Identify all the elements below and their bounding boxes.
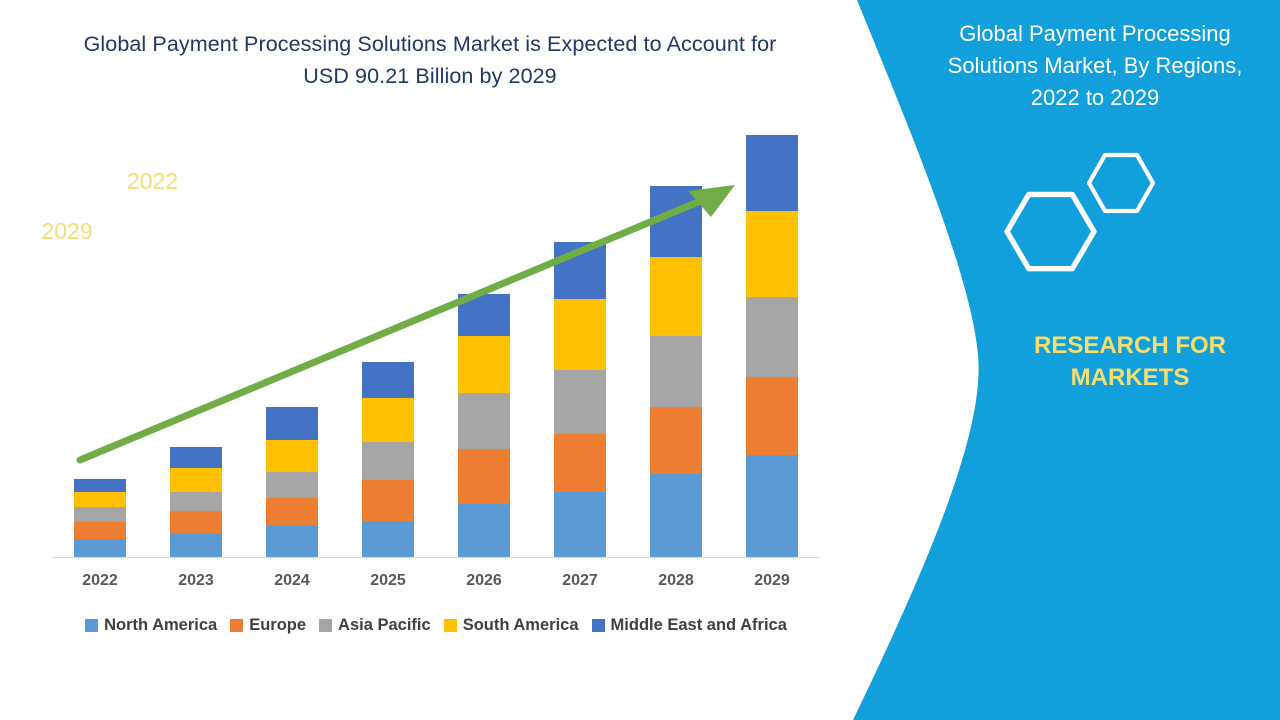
- x-axis-tick-2026: 2026: [449, 572, 519, 590]
- bar-segment: [554, 492, 606, 558]
- infographic-root: Global Payment Processing Solutions Mark…: [0, 0, 1280, 720]
- stacked-bar: [74, 479, 126, 558]
- bar-segment: [650, 407, 702, 474]
- x-axis-tick-2029: 2029: [737, 572, 807, 590]
- bar-segment: [458, 294, 510, 336]
- bar-segment: [554, 370, 606, 434]
- stacked-bar: [554, 242, 606, 558]
- legend-swatch-icon: [230, 619, 243, 632]
- bar-segment: [170, 492, 222, 511]
- x-axis-tick-2028: 2028: [641, 572, 711, 590]
- chart-panel: Global Payment Processing Solutions Mark…: [0, 0, 860, 720]
- legend-label: Europe: [249, 616, 306, 635]
- bar-segment: [74, 507, 126, 522]
- legend-label: South America: [463, 616, 579, 635]
- bar-segment: [458, 393, 510, 449]
- hexagon-badges: [985, 145, 1185, 280]
- legend-label: Asia Pacific: [338, 616, 431, 635]
- x-axis-tick-2023: 2023: [161, 572, 231, 590]
- bar-segment: [554, 242, 606, 299]
- bar-segment: [746, 377, 798, 455]
- stacked-bar: [650, 186, 702, 558]
- bar-segment: [458, 449, 510, 503]
- bar-segment: [266, 440, 318, 471]
- bar-segment: [74, 479, 126, 492]
- legend-swatch-icon: [319, 619, 332, 632]
- legend-item: North America: [85, 616, 217, 635]
- bar-segment: [554, 434, 606, 492]
- bar-segment: [554, 299, 606, 370]
- legend-swatch-icon: [85, 619, 98, 632]
- bar-segment: [746, 211, 798, 298]
- bar-segment: [266, 472, 318, 498]
- bar-segment: [170, 447, 222, 468]
- bar-segment: [266, 407, 318, 440]
- bar-segment: [170, 468, 222, 492]
- bar-segment: [74, 522, 126, 540]
- bar-segment: [266, 525, 318, 558]
- bar-segment: [362, 362, 414, 399]
- bar-segment: [746, 297, 798, 376]
- bar-segment: [746, 455, 798, 558]
- chart-legend: North AmericaEuropeAsia PacificSouth Ame…: [52, 616, 820, 635]
- bar-segment: [362, 398, 414, 442]
- bar-segment: [650, 186, 702, 256]
- bar-segment: [74, 492, 126, 507]
- stacked-bar: [746, 135, 798, 558]
- legend-label: Middle East and Africa: [611, 616, 787, 635]
- x-axis-tick-2022: 2022: [65, 572, 135, 590]
- stacked-bar: [170, 447, 222, 558]
- hexagon-2022-label: 2022: [100, 168, 205, 195]
- bar-segment: [650, 257, 702, 336]
- bar-chart-plot-area: [52, 170, 820, 558]
- hexagon-2029-label: 2029: [12, 218, 122, 245]
- legend-item: Middle East and Africa: [592, 616, 787, 635]
- brand-name: RESEARCH FOR MARKETS: [1010, 330, 1250, 394]
- legend-swatch-icon: [592, 619, 605, 632]
- bar-segment: [74, 539, 126, 558]
- x-axis-tick-2025: 2025: [353, 572, 423, 590]
- x-axis-tick-2027: 2027: [545, 572, 615, 590]
- x-axis-line: [52, 557, 820, 558]
- legend-item: South America: [444, 616, 579, 635]
- hexagon-2022-icon: [985, 145, 1185, 280]
- bar-segment: [650, 336, 702, 407]
- panel-title: Global Payment Processing Solutions Mark…: [925, 18, 1265, 114]
- bar-segment: [746, 135, 798, 211]
- bar-segment: [362, 442, 414, 480]
- stacked-bar: [458, 294, 510, 558]
- bar-segment: [170, 533, 222, 558]
- legend-item: Europe: [230, 616, 306, 635]
- stacked-bar: [362, 362, 414, 558]
- legend-item: Asia Pacific: [319, 616, 431, 635]
- bar-segment: [362, 480, 414, 521]
- legend-label: North America: [104, 616, 217, 635]
- bar-segment: [458, 336, 510, 394]
- chart-title: Global Payment Processing Solutions Mark…: [70, 28, 790, 92]
- x-axis-tick-2024: 2024: [257, 572, 327, 590]
- bar-segment: [362, 521, 414, 558]
- bar-segment: [266, 498, 318, 526]
- bar-segment: [458, 504, 510, 558]
- bar-segment: [170, 511, 222, 533]
- bar-segment: [650, 474, 702, 558]
- x-axis-labels: 20222023202420252026202720282029: [52, 572, 820, 602]
- stacked-bar: [266, 407, 318, 558]
- legend-swatch-icon: [444, 619, 457, 632]
